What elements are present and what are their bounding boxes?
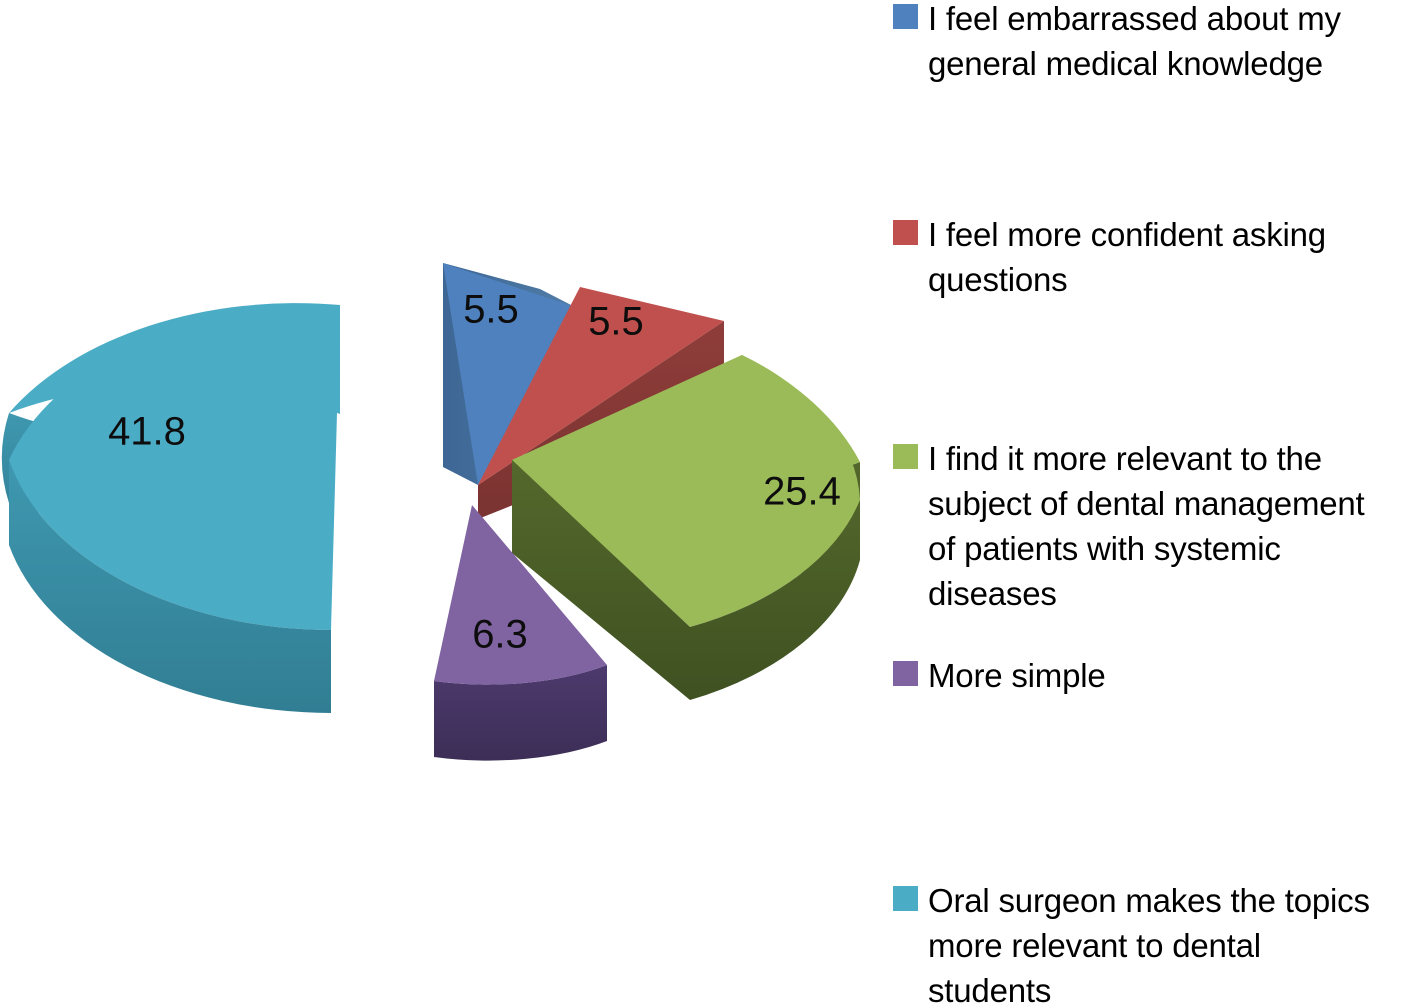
legend-label-confident: I feel more confident asking questions — [928, 212, 1326, 302]
chart-legend: I feel embarrassed about my general medi… — [893, 0, 1417, 1008]
legend-item-embarrassed[interactable]: I feel embarrassed about my general medi… — [893, 0, 1417, 86]
pie-label-oral-surgeon: 41.8 — [108, 410, 186, 454]
legend-label-embarrassed: I feel embarrassed about my general medi… — [928, 0, 1341, 86]
pie-label-more-simple: 6.3 — [472, 613, 528, 657]
pie-label-confident: 5.5 — [588, 300, 644, 344]
legend-label-relevant: I find it more relevant to the subject o… — [928, 436, 1365, 616]
pie-chart-svg: 41.8 5.5 5.5 25.4 — [0, 0, 890, 1008]
legend-item-relevant[interactable]: I find it more relevant to the subject o… — [893, 436, 1417, 616]
legend-swatch-oral-surgeon — [893, 886, 918, 911]
legend-label-more-simple: More simple — [928, 653, 1106, 698]
legend-item-more-simple[interactable]: More simple — [893, 653, 1417, 698]
legend-swatch-confident — [893, 220, 918, 245]
pie-label-relevant: 25.4 — [763, 470, 841, 514]
legend-swatch-embarrassed — [893, 4, 918, 29]
pie-chart-plot-area: 41.8 5.5 5.5 25.4 — [0, 0, 890, 1008]
legend-item-oral-surgeon[interactable]: Oral surgeon makes the topics more relev… — [893, 878, 1417, 1008]
legend-item-confident[interactable]: I feel more confident asking questions — [893, 212, 1417, 302]
legend-swatch-relevant — [893, 444, 918, 469]
pie-label-embarrassed: 5.5 — [463, 288, 519, 332]
pie-chart-figure: 41.8 5.5 5.5 25.4 — [0, 0, 1417, 1008]
legend-label-oral-surgeon: Oral surgeon makes the topics more relev… — [928, 878, 1370, 1008]
pie-slice-oral-surgeon[interactable]: 41.8 — [2, 303, 340, 713]
legend-swatch-more-simple — [893, 661, 918, 686]
